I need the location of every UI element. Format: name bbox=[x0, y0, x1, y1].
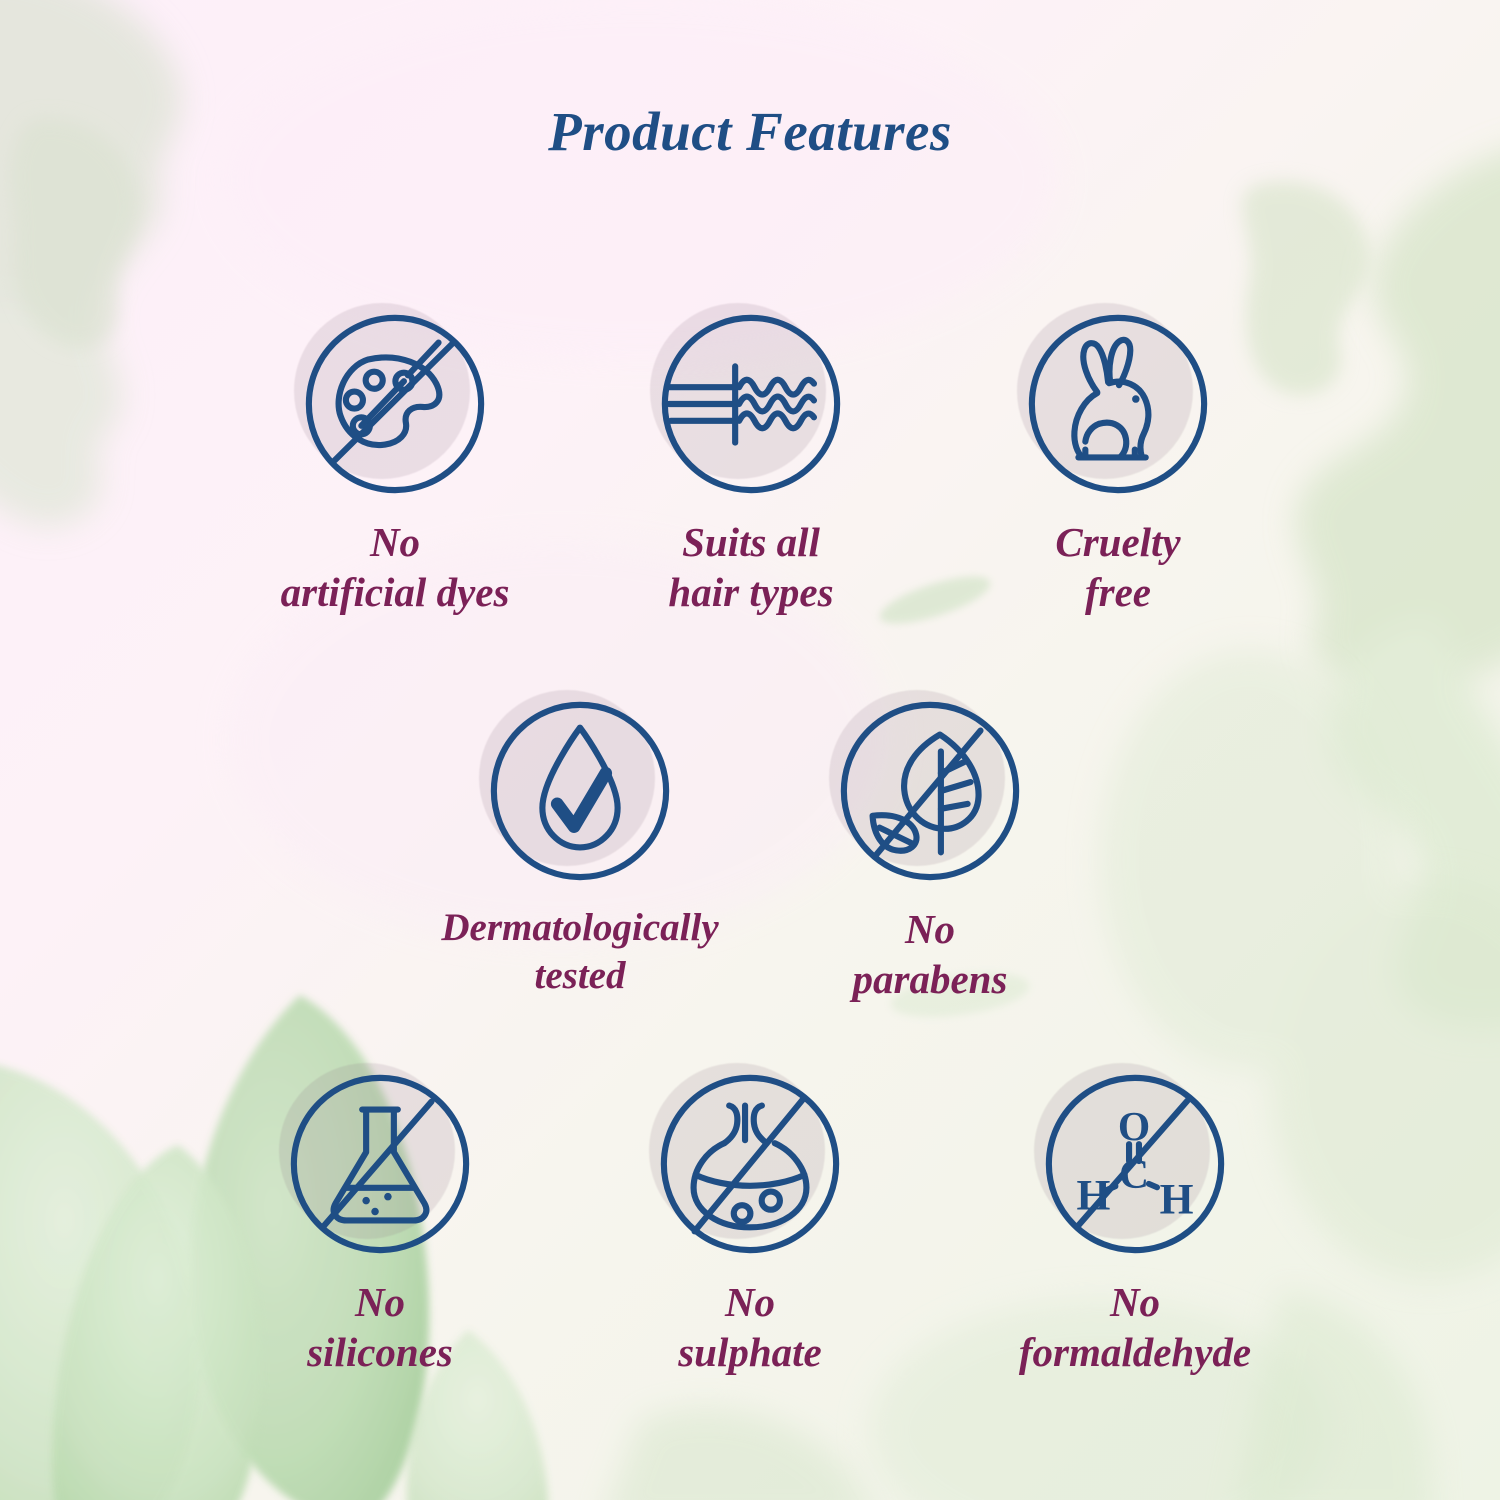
feature-label: Cruelty free bbox=[953, 517, 1283, 617]
leaf-crossed-icon bbox=[831, 692, 1029, 890]
page-title: Product Features bbox=[0, 100, 1500, 163]
water-drop-check-icon bbox=[481, 692, 679, 890]
feature-cruelty-free[interactable]: Cruelty free bbox=[953, 305, 1283, 617]
badge-cruelty-free bbox=[1019, 305, 1217, 503]
feature-no-silicones[interactable]: No silicones bbox=[215, 1065, 545, 1377]
feature-no-formaldehyde[interactable]: O C H H No formaldehyde bbox=[955, 1065, 1315, 1377]
feature-no-parabens[interactable]: No parabens bbox=[765, 692, 1095, 1004]
badge-no-parabens bbox=[831, 692, 1029, 890]
badge-dermatologically-tested bbox=[481, 692, 679, 890]
badge-no-formaldehyde: O C H H bbox=[1036, 1065, 1234, 1263]
feature-suits-all-hair-types[interactable]: Suits all hair types bbox=[586, 305, 916, 617]
molecule-hydrogen-right-label: H bbox=[1160, 1176, 1194, 1224]
molecule-hydrogen-left-label: H bbox=[1076, 1172, 1110, 1220]
molecule-oxygen-label: O bbox=[1118, 1103, 1150, 1149]
badge-no-artificial-dyes bbox=[296, 305, 494, 503]
rabbit-icon bbox=[1019, 305, 1217, 503]
badge-suits-all-hair-types bbox=[652, 305, 850, 503]
straight-to-wavy-hair-icon bbox=[652, 305, 850, 503]
badge-no-silicones bbox=[281, 1065, 479, 1263]
feature-label: No artificial dyes bbox=[230, 517, 560, 617]
feature-dermatologically-tested[interactable]: Dermatologically tested bbox=[390, 692, 770, 999]
erlenmeyer-flask-crossed-icon bbox=[281, 1065, 479, 1263]
paint-palette-crossed-icon bbox=[296, 305, 494, 503]
badge-no-sulphate bbox=[651, 1065, 849, 1263]
feature-label: No parabens bbox=[765, 904, 1095, 1004]
feature-label: Dermatologically tested bbox=[390, 904, 770, 999]
feature-label: Suits all hair types bbox=[586, 517, 916, 617]
formaldehyde-molecule-crossed-icon: O C H H bbox=[1036, 1065, 1234, 1263]
feature-label: No silicones bbox=[215, 1277, 545, 1377]
molecule-carbon-label: C bbox=[1119, 1151, 1149, 1197]
feature-no-artificial-dyes[interactable]: No artificial dyes bbox=[230, 305, 560, 617]
round-flask-crossed-icon bbox=[651, 1065, 849, 1263]
feature-no-sulphate[interactable]: No sulphate bbox=[585, 1065, 915, 1377]
feature-label: No sulphate bbox=[585, 1277, 915, 1377]
feature-label: No formaldehyde bbox=[955, 1277, 1315, 1377]
